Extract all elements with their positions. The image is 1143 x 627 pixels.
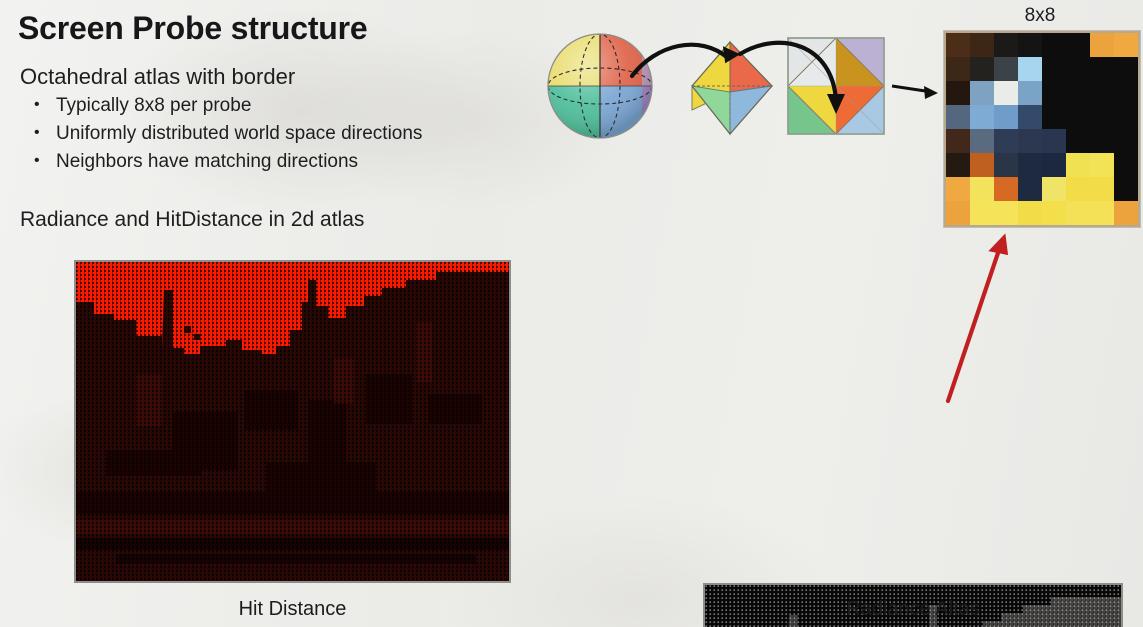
probe-pixel-0-0 bbox=[946, 33, 970, 57]
probe-pixel-2-7 bbox=[1114, 81, 1138, 105]
probe-pixel-3-6 bbox=[1090, 105, 1114, 129]
arrow-atlas-to-probe-icon bbox=[892, 86, 938, 99]
probe-pixel-6-7 bbox=[1114, 177, 1138, 201]
probe-grid-label: 8x8 bbox=[975, 5, 1105, 27]
probe-pixel-0-3 bbox=[1018, 33, 1042, 57]
probe-pixel-4-6 bbox=[1090, 129, 1114, 153]
probe-pixel-5-4 bbox=[1042, 153, 1066, 177]
zoom-callout-arrow bbox=[930, 215, 1070, 415]
probe-pixel-0-6 bbox=[1090, 33, 1114, 57]
probe-pixel-5-1 bbox=[970, 153, 994, 177]
probe-pixel-4-7 bbox=[1114, 129, 1138, 153]
probe-pixel-1-4 bbox=[1042, 57, 1066, 81]
probe-pixel-5-0 bbox=[946, 153, 970, 177]
subheading-octahedral-atlas: Octahedral atlas with border bbox=[20, 64, 295, 90]
probe-pixel-2-5 bbox=[1066, 81, 1090, 105]
probe-pixel-6-4 bbox=[1042, 177, 1066, 201]
probe-pixel-1-6 bbox=[1090, 57, 1114, 81]
probe-pixel-0-2 bbox=[994, 33, 1018, 57]
probe-pixel-2-3 bbox=[1018, 81, 1042, 105]
probe-pixel-0-5 bbox=[1066, 33, 1090, 57]
probe-pixel-5-3 bbox=[1018, 153, 1042, 177]
probe-pixel-1-2 bbox=[994, 57, 1018, 81]
probe-pixel-0-1 bbox=[970, 33, 994, 57]
bullet-text: Neighbors have matching directions bbox=[56, 151, 358, 172]
probe-pixel-4-3 bbox=[1018, 129, 1042, 153]
slide-canvas: Screen Probe structure Octahedral atlas … bbox=[0, 0, 1143, 627]
red-arrow-icon bbox=[930, 215, 1070, 415]
probe-pixel-4-0 bbox=[946, 129, 970, 153]
probe-pixel-2-1 bbox=[970, 81, 994, 105]
probe-pixel-4-4 bbox=[1042, 129, 1066, 153]
probe-pixel-3-5 bbox=[1066, 105, 1090, 129]
probe-pixel-7-6 bbox=[1090, 201, 1114, 225]
probe-pixel-5-7 bbox=[1114, 153, 1138, 177]
probe-pixel-6-1 bbox=[970, 177, 994, 201]
probe-pixel-4-1 bbox=[970, 129, 994, 153]
list-item: Uniformly distributed world space direct… bbox=[24, 120, 422, 148]
probe-pixel-grid bbox=[944, 31, 1140, 227]
page-title: Screen Probe structure bbox=[18, 10, 368, 47]
probe-pixel-3-2 bbox=[994, 105, 1018, 129]
probe-pixel-1-0 bbox=[946, 57, 970, 81]
probe-pixel-2-6 bbox=[1090, 81, 1114, 105]
probe-pixel-1-3 bbox=[1018, 57, 1042, 81]
probe-pixel-6-0 bbox=[946, 177, 970, 201]
probe-pixel-3-3 bbox=[1018, 105, 1042, 129]
probe-pixel-0-7 bbox=[1114, 33, 1138, 57]
probe-pixel-6-2 bbox=[994, 177, 1018, 201]
hit-distance-caption: Hit Distance bbox=[74, 598, 511, 621]
atlas-description-line: Radiance and HitDistance in 2d atlas bbox=[20, 208, 364, 232]
probe-pixel-6-5 bbox=[1066, 177, 1090, 201]
bullet-list: Typically 8x8 per probe Uniformly distri… bbox=[24, 92, 422, 176]
probe-pixel-3-1 bbox=[970, 105, 994, 129]
probe-pixel-3-4 bbox=[1042, 105, 1066, 129]
probe-pixel-3-0 bbox=[946, 105, 970, 129]
list-item: Typically 8x8 per probe bbox=[24, 92, 422, 120]
probe-pixel-0-4 bbox=[1042, 33, 1066, 57]
hit-distance-render bbox=[76, 262, 509, 581]
probe-pixel-1-7 bbox=[1114, 57, 1138, 81]
probe-pixel-2-0 bbox=[946, 81, 970, 105]
sphere-icon bbox=[548, 34, 664, 138]
probe-pixel-1-1 bbox=[970, 57, 994, 81]
bullet-text: Uniformly distributed world space direct… bbox=[56, 123, 422, 144]
octahedral-mapping-diagram bbox=[540, 14, 940, 174]
probe-pixel-2-2 bbox=[994, 81, 1018, 105]
probe-pixel-5-2 bbox=[994, 153, 1018, 177]
probe-pixel-2-4 bbox=[1042, 81, 1066, 105]
list-item: Neighbors have matching directions bbox=[24, 148, 422, 176]
hit-distance-image bbox=[74, 260, 511, 583]
probe-pixel-6-6 bbox=[1090, 177, 1114, 201]
bullet-text: Typically 8x8 per probe bbox=[56, 95, 251, 116]
probe-pixel-4-2 bbox=[994, 129, 1018, 153]
probe-pixel-7-7 bbox=[1114, 201, 1138, 225]
probe-pixel-5-6 bbox=[1090, 153, 1114, 177]
radiance-atlas-caption: Radiance Altas bbox=[703, 598, 1123, 621]
probe-pixel-3-7 bbox=[1114, 105, 1138, 129]
probe-pixel-4-5 bbox=[1066, 129, 1090, 153]
probe-pixel-6-3 bbox=[1018, 177, 1042, 201]
probe-pixel-5-5 bbox=[1066, 153, 1090, 177]
probe-pixel-1-5 bbox=[1066, 57, 1090, 81]
diagram-svg bbox=[540, 14, 940, 174]
